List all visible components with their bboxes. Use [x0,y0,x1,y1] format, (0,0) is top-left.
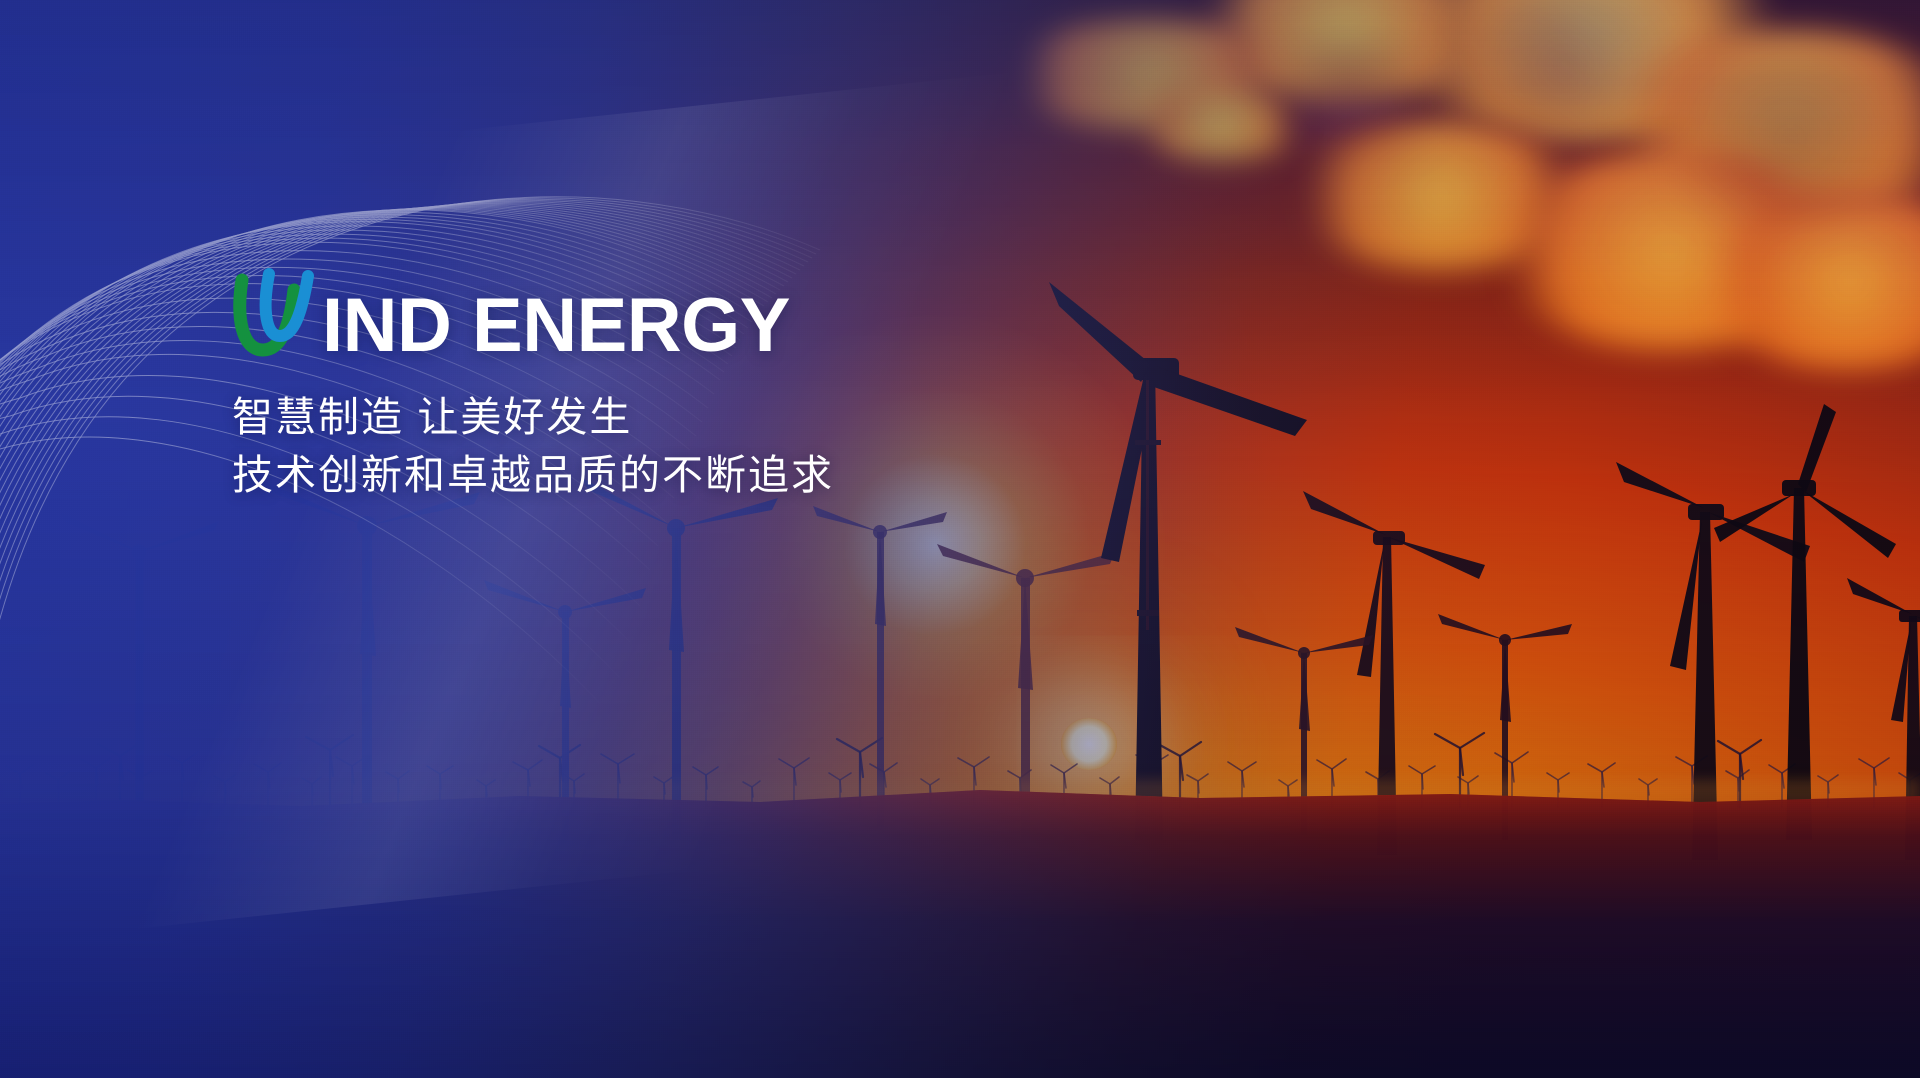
brand-lockup: IND ENERGY [232,272,1132,362]
wind-w-monogram-icon [232,272,326,358]
tagline-line-2: 技术创新和卓越品质的不断追求 [232,446,1132,504]
hero-content: IND ENERGY 智慧制造 让美好发生 技术创新和卓越品质的不断追求 [232,272,1132,504]
tagline-line-1: 智慧制造 让美好发生 [232,388,1132,446]
tagline-block: 智慧制造 让美好发生 技术创新和卓越品质的不断追求 [232,388,1132,504]
flowing-contour-lines-decor [0,60,820,1078]
wordmark-text: IND ENERGY [322,290,790,362]
hero-banner: IND ENERGY 智慧制造 让美好发生 技术创新和卓越品质的不断追求 [0,0,1920,1078]
